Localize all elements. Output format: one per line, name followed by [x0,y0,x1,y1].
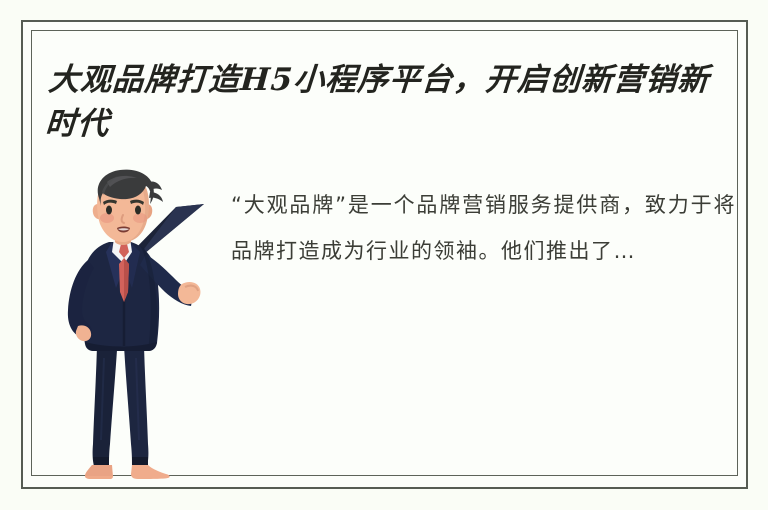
article-title: 大观品牌打造H5小程序平台，开启创新营销新时代 [44,58,740,146]
legs-group [93,346,149,466]
feet-group [85,465,170,479]
illustration-businessman [52,168,228,480]
article-card: 大观品牌打造H5小程序平台，开启创新营销新时代 “大观品牌”是一个品牌营销服务提… [0,0,768,510]
article-summary: “大观品牌”是一个品牌营销服务提供商，致力于将品牌打造成为行业的领袖。他们推出了… [231,182,736,274]
